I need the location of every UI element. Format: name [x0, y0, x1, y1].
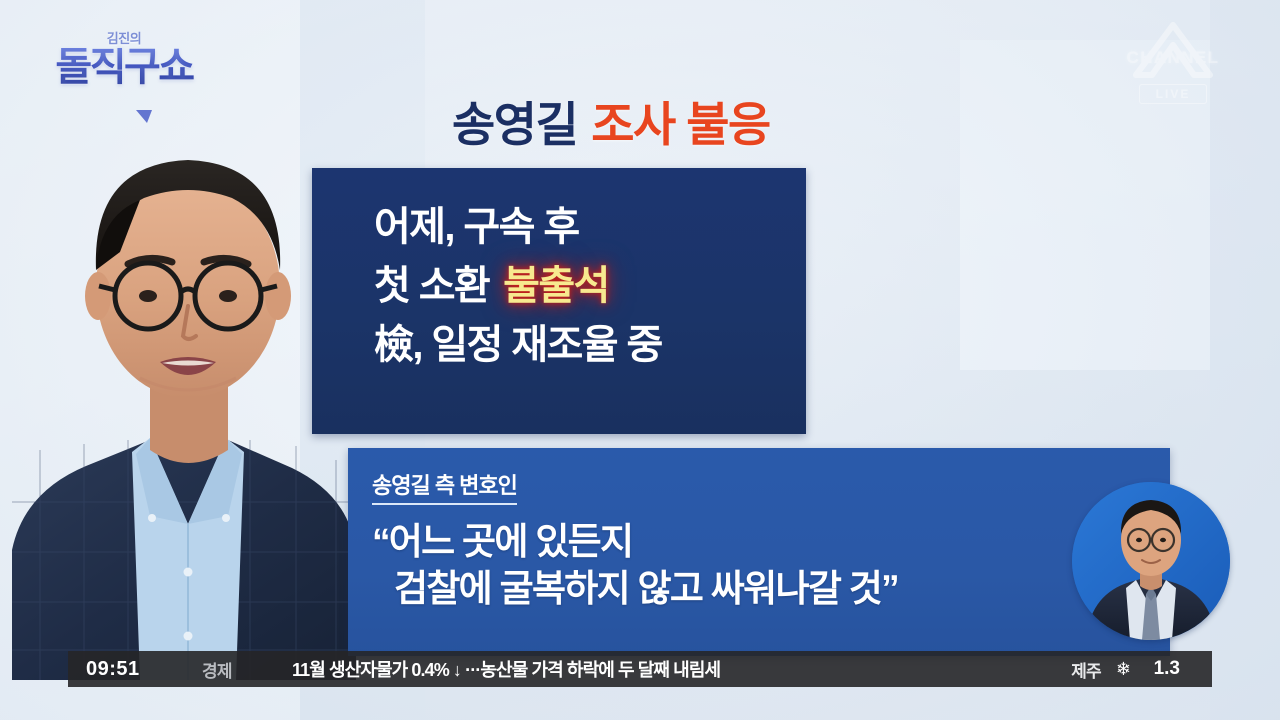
- live-badge: LIVE: [1139, 84, 1208, 104]
- channel-a-mark-icon: CHANNEL: [1118, 22, 1228, 78]
- program-logo: 김진의 돌직구쇼: [44, 28, 204, 114]
- program-show-title: 돌직구쇼: [44, 48, 204, 86]
- quote-box: 송영길 측 변호인 “어느 곳에 있든지 검찰에 굴복하지 않고 싸워나갈 것”: [348, 448, 1170, 656]
- page-title: 송영길조사 불응: [452, 86, 770, 155]
- quote-source-label: 송영길 측 변호인: [372, 468, 517, 505]
- quote-line-1: “어느 곳에 있든지: [372, 518, 1170, 565]
- channel-name-label: CHANNEL: [1118, 48, 1228, 68]
- caption-line-3: 檢, 일정 재조율 중: [374, 316, 806, 375]
- caption-line-2: 첫 소환불출석: [374, 257, 806, 316]
- ticker-weather: 제주 ❄ 1.3: [1071, 657, 1198, 682]
- caption-highlight: 불출석: [503, 264, 609, 308]
- ticker-headline: 11월 생산자물가 0.4% ↓ ···농산물 가격 하락에 두 달째 내림세: [292, 656, 720, 682]
- speech-bubble-tail-icon: [136, 110, 152, 123]
- anchor-pip: [1072, 482, 1230, 640]
- headline-action: 조사 불응: [591, 98, 770, 151]
- caption-line-2-prefix: 첫 소환: [374, 264, 489, 308]
- weather-region: 제주: [1071, 657, 1101, 682]
- snowflake-icon: ❄: [1116, 660, 1131, 678]
- weather-temperature: 1.3: [1146, 658, 1180, 680]
- caption-line-1: 어제, 구속 후: [374, 198, 806, 257]
- news-ticker: 09:51 경제 11월 생산자물가 0.4% ↓ ···농산물 가격 하락에 …: [68, 651, 1212, 687]
- channel-logo: CHANNEL LIVE: [1118, 22, 1228, 104]
- broadcast-screen: 김진의 돌직구쇼 CHANNEL LIVE 송영길조사 불응 어제, 구속 후 …: [0, 0, 1280, 720]
- ticker-category: 경제: [202, 657, 248, 682]
- ticker-time: 09:51: [86, 658, 160, 681]
- subject-photo: [0, 120, 360, 680]
- quote-line-2: 검찰에 굴복하지 않고 싸워나갈 것”: [372, 565, 1170, 612]
- caption-box: 어제, 구속 후 첫 소환불출석 檢, 일정 재조율 중: [312, 168, 806, 434]
- headline-subject: 송영길: [452, 98, 577, 151]
- backdrop-panel-edge: [1210, 0, 1280, 720]
